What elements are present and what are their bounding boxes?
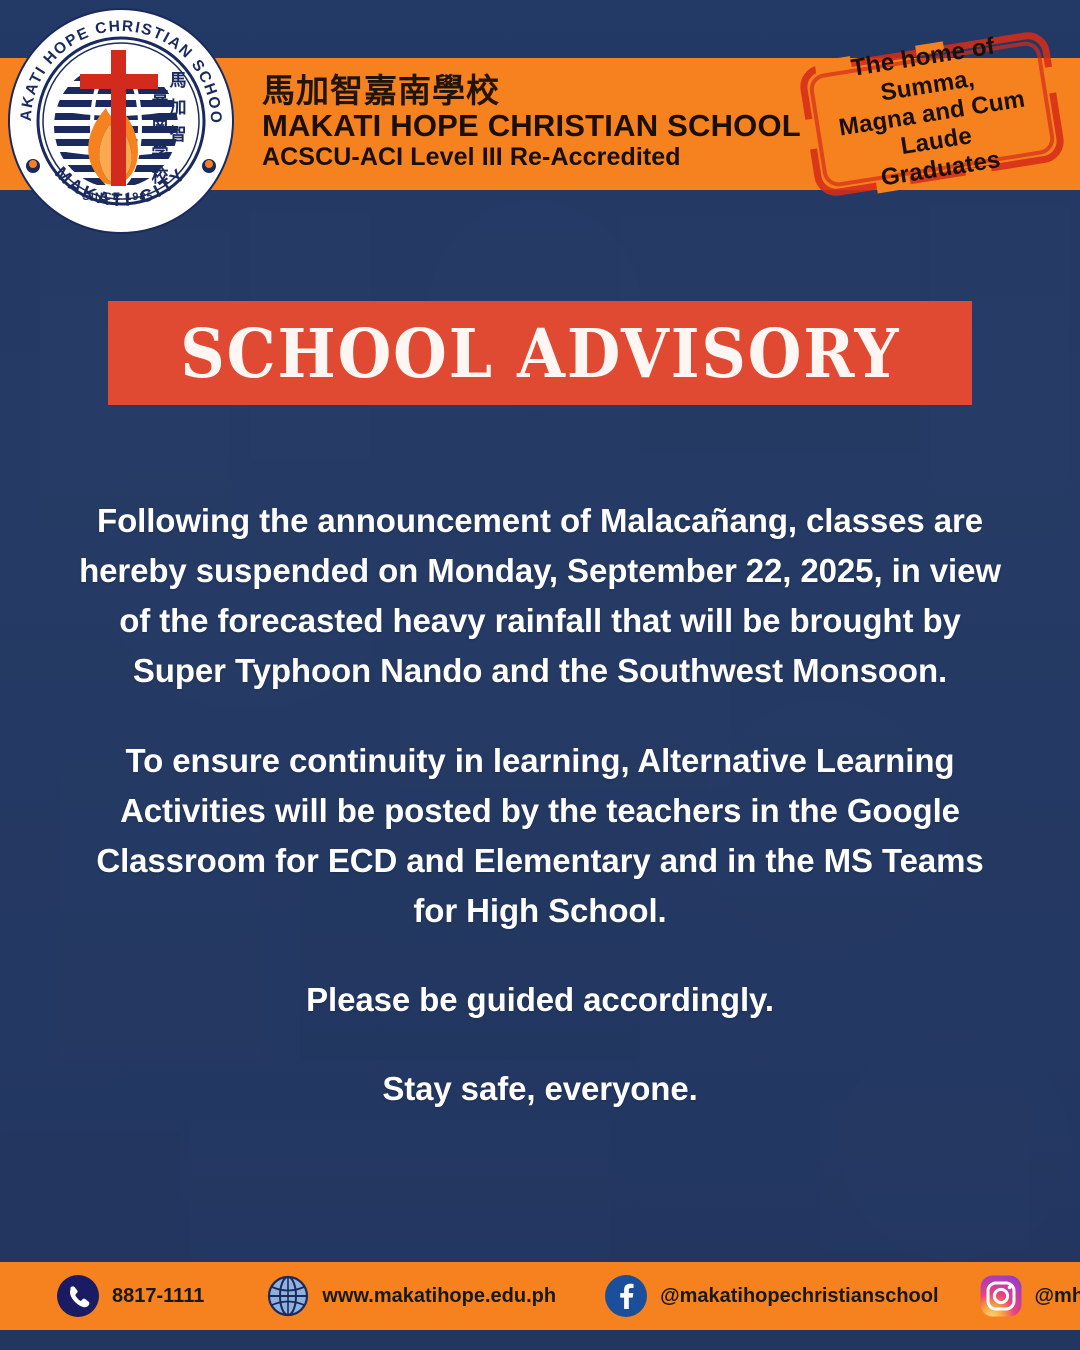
advisory-paragraph-3: Please be guided accordingly. (72, 975, 1008, 1025)
advisory-paragraph-4: Stay safe, everyone. (72, 1064, 1008, 1114)
footer-phone[interactable]: 8817-1111 (56, 1274, 204, 1318)
header-english-name: MAKATI HOPE CHRISTIAN SCHOOL (262, 110, 801, 141)
footer-facebook[interactable]: @makatihopechristianschool (604, 1274, 938, 1318)
footer-contact-bar: 8817-1111 www.makatihope.edu.ph @makatih… (0, 1262, 1080, 1330)
school-logo: 馬 嘉 加 南 智 學 校 SINCE 1985 MAKATI HOPE CHR… (8, 8, 234, 234)
svg-text:學: 學 (152, 141, 169, 161)
header-text-block: 馬加智嘉南學校 MAKATI HOPE CHRISTIAN SCHOOL ACS… (262, 74, 801, 170)
footer-facebook-text: @makatihopechristianschool (660, 1285, 938, 1308)
svg-text:嘉: 嘉 (151, 88, 169, 109)
school-advisory-poster: 馬 嘉 加 南 智 學 校 SINCE 1985 MAKATI HOPE CHR… (0, 0, 1080, 1350)
phone-icon (56, 1274, 100, 1318)
footer-website[interactable]: www.makatihope.edu.ph (266, 1274, 556, 1318)
advisory-body: Following the announcement of Malacañang… (72, 496, 1008, 1115)
svg-text:加: 加 (169, 98, 187, 118)
instagram-icon (979, 1274, 1023, 1318)
header-accreditation: ACSCU-ACI Level III Re-Accredited (262, 145, 801, 170)
svg-text:馬: 馬 (170, 71, 187, 91)
svg-text:南: 南 (152, 114, 169, 135)
footer-phone-text: 8817-1111 (112, 1285, 204, 1308)
advisory-paragraph-1: Following the announcement of Malacañang… (72, 496, 1008, 697)
header-chinese-name: 馬加智嘉南學校 (262, 74, 801, 107)
svg-text:智: 智 (170, 124, 187, 145)
footer-instagram[interactable]: @mhcs_official (979, 1274, 1080, 1318)
footer-website-text: www.makatihope.edu.ph (322, 1285, 556, 1308)
footer-instagram-text: @mhcs_official (1035, 1285, 1080, 1308)
advisory-banner: SCHOOL ADVISORY (108, 301, 972, 405)
advisory-title: SCHOOL ADVISORY (180, 314, 900, 393)
globe-icon (266, 1274, 310, 1318)
advisory-paragraph-2: To ensure continuity in learning, Altern… (72, 736, 1008, 937)
facebook-icon (604, 1274, 648, 1318)
